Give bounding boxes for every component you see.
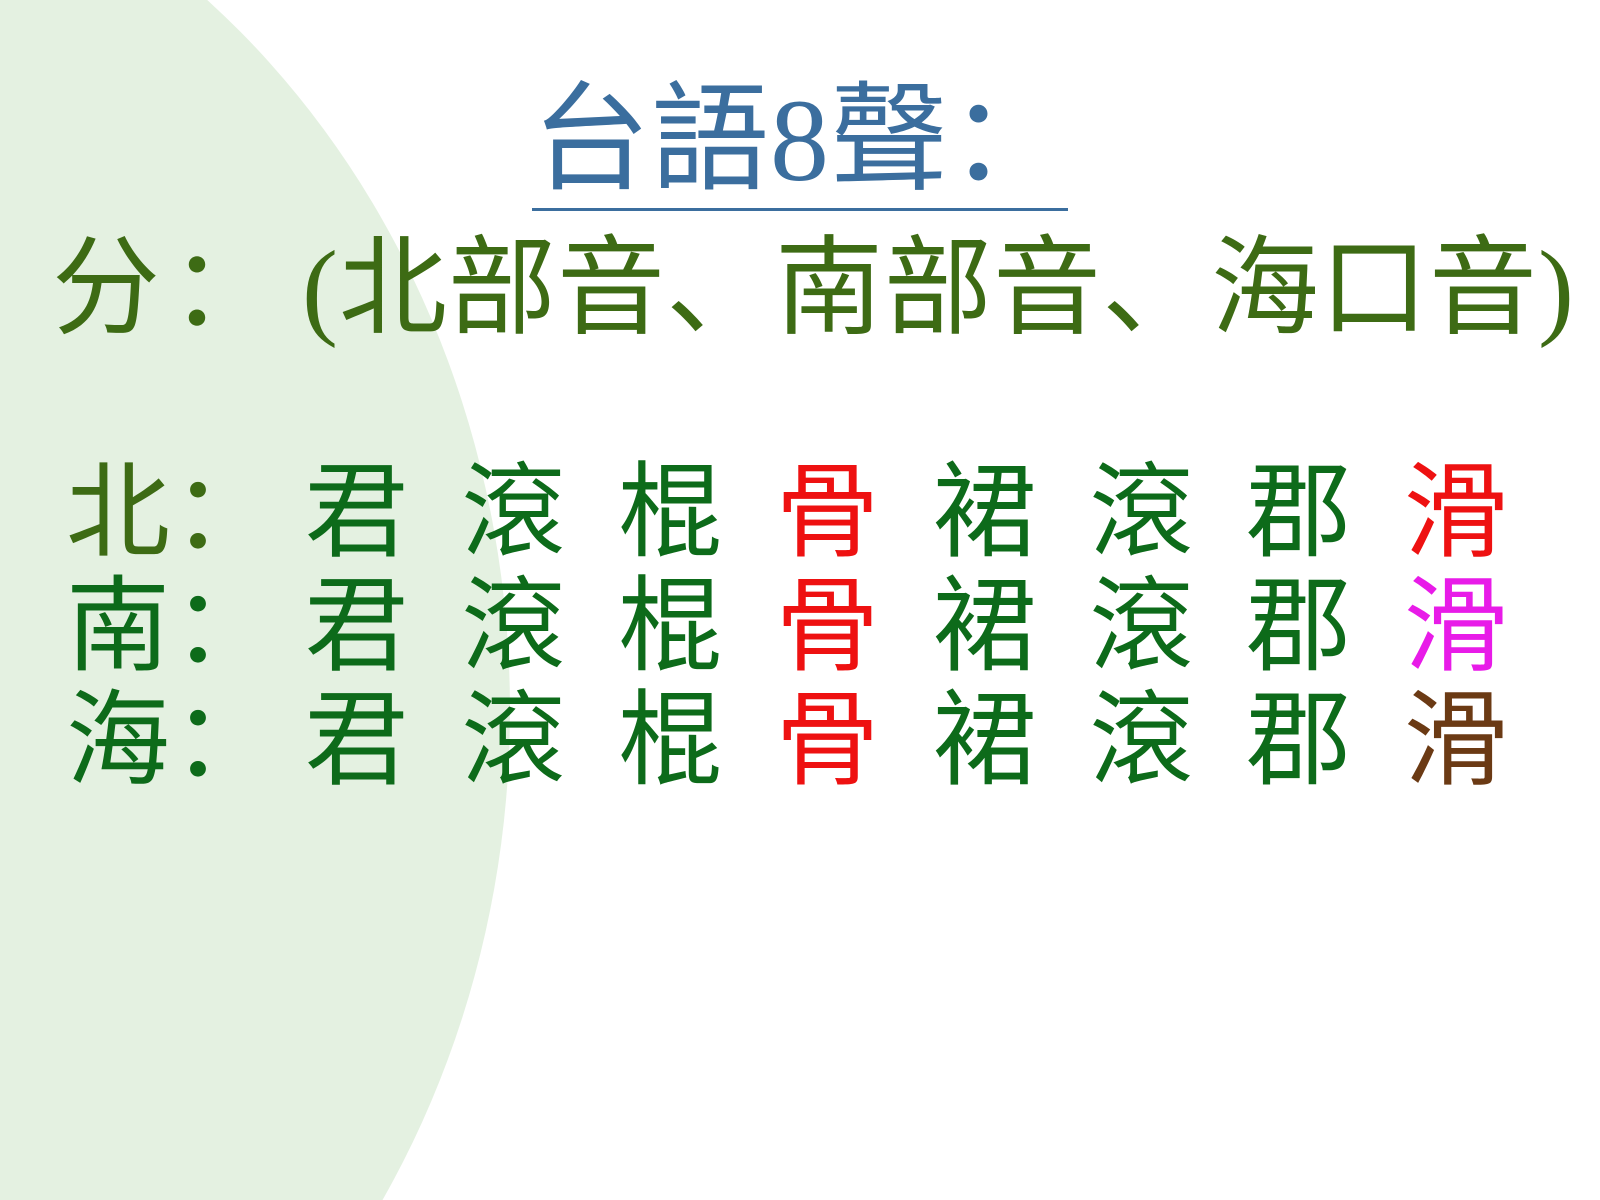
row-label-south: 南： xyxy=(66,576,278,680)
syllable-cell: 滑 xyxy=(1377,576,1534,680)
syllable-cell: 滾 xyxy=(435,690,592,794)
syllable-cell: 君 xyxy=(278,576,435,680)
syllable-group: 君 滾 棍 骨 裙 滾 郡 滑 xyxy=(278,462,1536,566)
syllable-cell: 棍 xyxy=(592,462,749,566)
syllable-cell: 郡 xyxy=(1220,576,1377,680)
syllable-cell: 裙 xyxy=(906,576,1063,680)
syllable-group: 君 滾 棍 骨 裙 滾 郡 滑 xyxy=(278,576,1536,680)
syllable-cell: 滑 xyxy=(1377,690,1534,794)
syllable-cell: 滑 xyxy=(1377,462,1534,566)
syllable-cell: 骨 xyxy=(749,462,906,566)
table-row: 南： 君 滾 棍 骨 裙 滾 郡 滑 xyxy=(66,576,1536,690)
syllable-cell: 滾 xyxy=(1063,462,1220,566)
syllable-cell: 棍 xyxy=(592,576,749,680)
subtitle-dialect-list: (北部音、南部音、海口音) xyxy=(302,230,1575,349)
subtitle-line: 分：(北部音、南部音、海口音) xyxy=(52,236,1562,344)
syllable-cell: 滾 xyxy=(435,576,592,680)
table-row: 北： 君 滾 棍 骨 裙 滾 郡 滑 xyxy=(66,462,1536,576)
subtitle-prefix-label: 分： xyxy=(52,230,288,349)
syllable-cell: 裙 xyxy=(906,462,1063,566)
slide-canvas: 台語8聲： 分：(北部音、南部音、海口音) 北： 君 滾 棍 骨 裙 滾 郡 滑 xyxy=(0,0,1600,1200)
syllable-cell: 滾 xyxy=(435,462,592,566)
syllable-cell: 郡 xyxy=(1220,690,1377,794)
syllable-group: 君 滾 棍 骨 裙 滾 郡 滑 xyxy=(278,690,1536,794)
syllable-cell: 骨 xyxy=(749,576,906,680)
table-row: 海： 君 滾 棍 骨 裙 滾 郡 滑 xyxy=(66,690,1536,804)
syllable-cell: 棍 xyxy=(592,690,749,794)
row-label-coastal: 海： xyxy=(66,690,278,794)
syllable-cell: 君 xyxy=(278,690,435,794)
syllable-cell: 君 xyxy=(278,462,435,566)
row-label-north: 北： xyxy=(66,462,278,566)
dialect-tone-table: 北： 君 滾 棍 骨 裙 滾 郡 滑 南： 君 滾 棍 骨 xyxy=(66,462,1536,804)
syllable-cell: 骨 xyxy=(749,690,906,794)
slide-title-block: 台語8聲： xyxy=(0,82,1600,211)
syllable-cell: 滾 xyxy=(1063,576,1220,680)
syllable-cell: 滾 xyxy=(1063,690,1220,794)
syllable-cell: 郡 xyxy=(1220,462,1377,566)
slide-content: 台語8聲： 分：(北部音、南部音、海口音) 北： 君 滾 棍 骨 裙 滾 郡 滑 xyxy=(0,0,1600,1200)
syllable-cell: 裙 xyxy=(906,690,1063,794)
page-title: 台語8聲： xyxy=(532,82,1068,211)
